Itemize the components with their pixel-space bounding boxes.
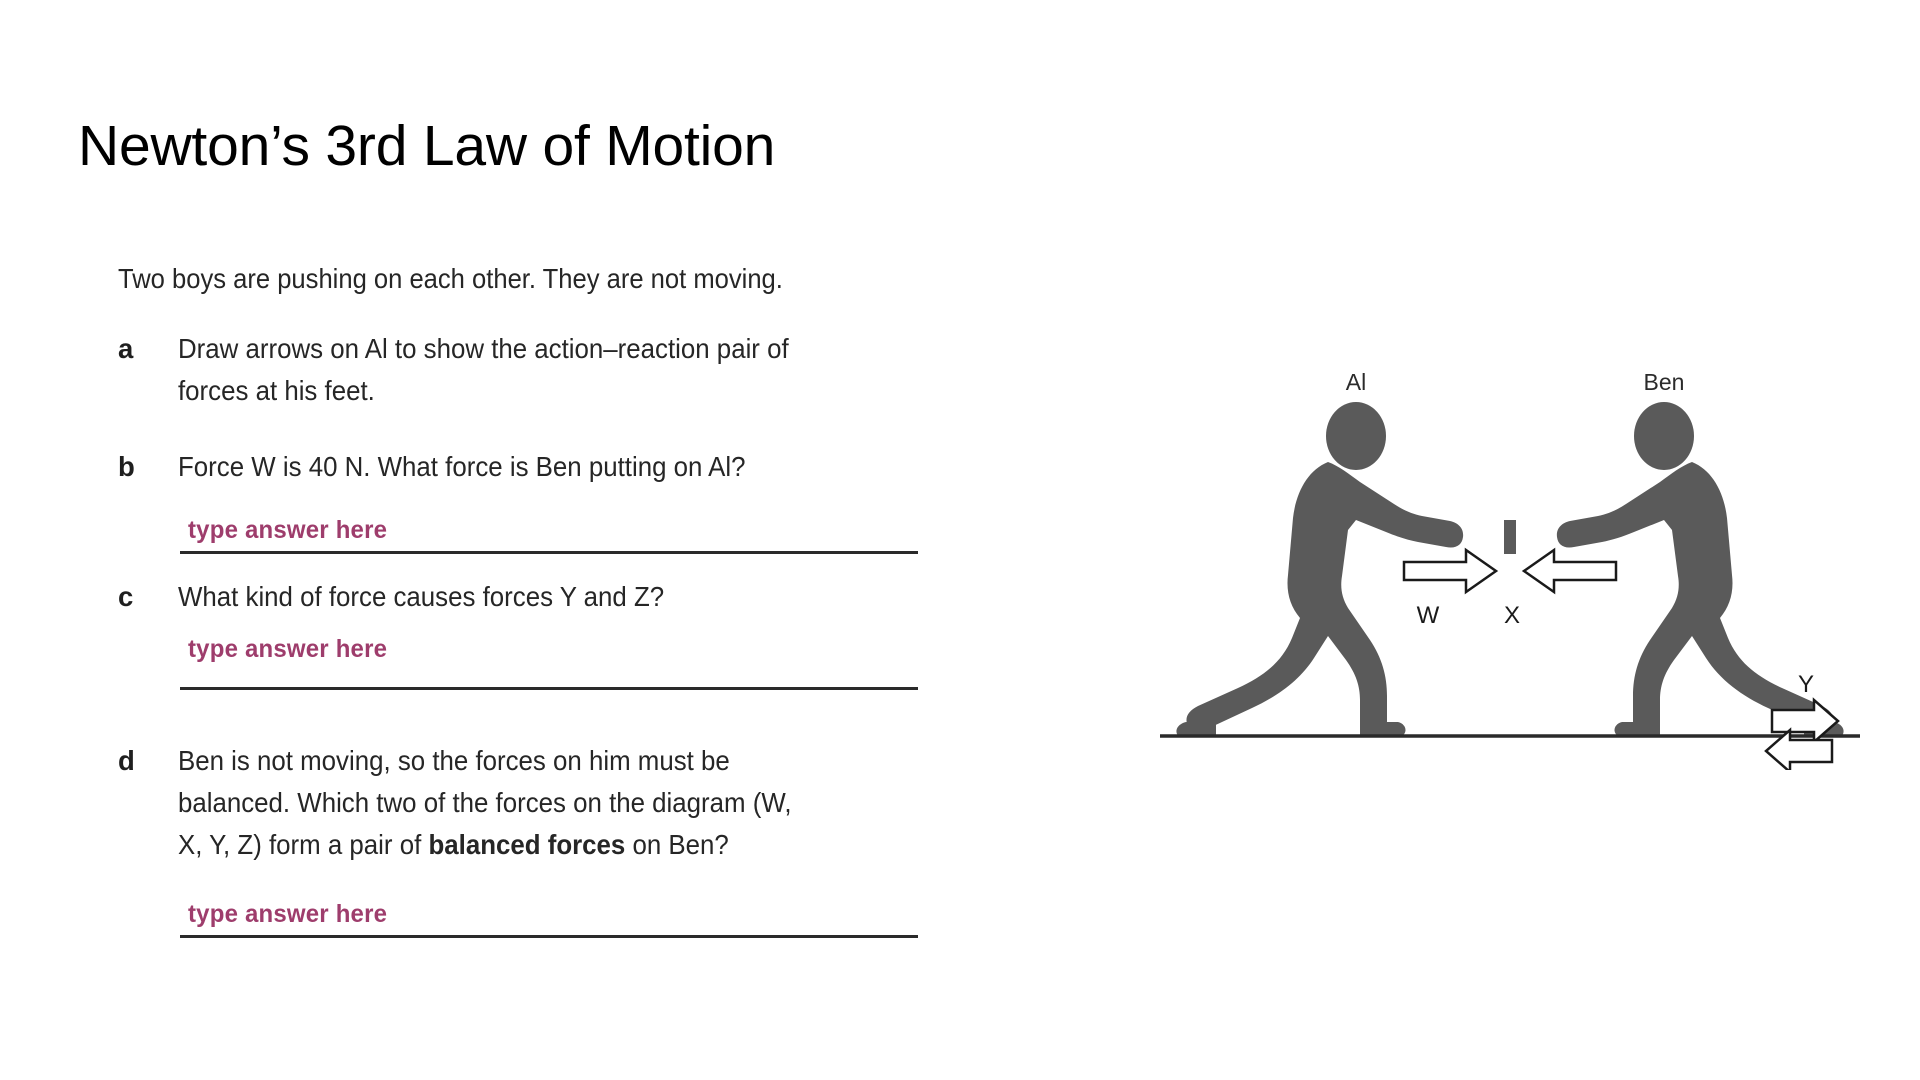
- page-title: Newton’s 3rd Law of Motion: [78, 113, 775, 179]
- force-label-x: X: [1504, 602, 1520, 629]
- answer-placeholder-d: type answer here: [188, 900, 387, 929]
- answer-placeholder-c: type answer here: [188, 635, 387, 664]
- question-b-line1: Force W is 40 N. What force is Ben putti…: [178, 446, 1062, 488]
- question-c-line1: What kind of force causes forces Y and Z…: [178, 576, 1062, 618]
- answer-rule-b: [180, 551, 918, 554]
- question-d: d Ben is not moving, so the forces on hi…: [118, 740, 1118, 866]
- question-a-line1: Draw arrows on Al to show the action–rea…: [178, 328, 1062, 370]
- question-c-letter: c: [118, 576, 178, 618]
- question-d-letter: d: [118, 740, 178, 782]
- question-c: c What kind of force causes forces Y and…: [118, 576, 1118, 618]
- question-b: b Force W is 40 N. What force is Ben put…: [118, 446, 1118, 488]
- question-d-line3-post: on Ben?: [625, 829, 729, 860]
- question-a-line2: forces at his feet.: [178, 370, 1062, 412]
- answer-rule-c: [180, 687, 918, 690]
- question-d-text: Ben is not moving, so the forces on him …: [178, 740, 1062, 866]
- worksheet-intro: Two boys are pushing on each other. They…: [118, 262, 1048, 296]
- answer-input-b[interactable]: type answer here: [180, 508, 918, 554]
- force-label-y: Y: [1798, 671, 1814, 698]
- question-a: a Draw arrows on Al to show the action–r…: [118, 328, 1118, 412]
- question-b-text: Force W is 40 N. What force is Ben putti…: [178, 446, 1062, 488]
- answer-placeholder-b: type answer here: [188, 516, 387, 545]
- arrow-w-icon: [1404, 550, 1496, 592]
- answer-input-d[interactable]: type answer here: [180, 892, 918, 938]
- force-diagram: W X Al Ben Y Z: [1160, 370, 1860, 770]
- question-d-line3-pre: X, Y, Z) form a pair of: [178, 829, 428, 860]
- question-a-text: Draw arrows on Al to show the action–rea…: [178, 328, 1062, 412]
- label-al: Al: [1346, 370, 1366, 395]
- question-b-letter: b: [118, 446, 178, 488]
- question-a-letter: a: [118, 328, 178, 370]
- label-ben: Ben: [1644, 370, 1685, 395]
- answer-input-c[interactable]: type answer here: [180, 628, 918, 690]
- question-d-line3: X, Y, Z) form a pair of balanced forces …: [178, 824, 1062, 866]
- answer-rule-d: [180, 935, 918, 938]
- hand-contact-point: [1504, 520, 1516, 554]
- question-c-text: What kind of force causes forces Y and Z…: [178, 576, 1062, 618]
- force-label-w: W: [1417, 602, 1440, 629]
- worksheet-block: Two boys are pushing on each other. They…: [118, 262, 1118, 938]
- question-d-line2: balanced. Which two of the forces on the…: [178, 782, 1062, 824]
- question-d-bold-term: balanced forces: [428, 829, 625, 860]
- arrow-x-icon: [1524, 550, 1616, 592]
- question-d-line1: Ben is not moving, so the forces on him …: [178, 740, 1062, 782]
